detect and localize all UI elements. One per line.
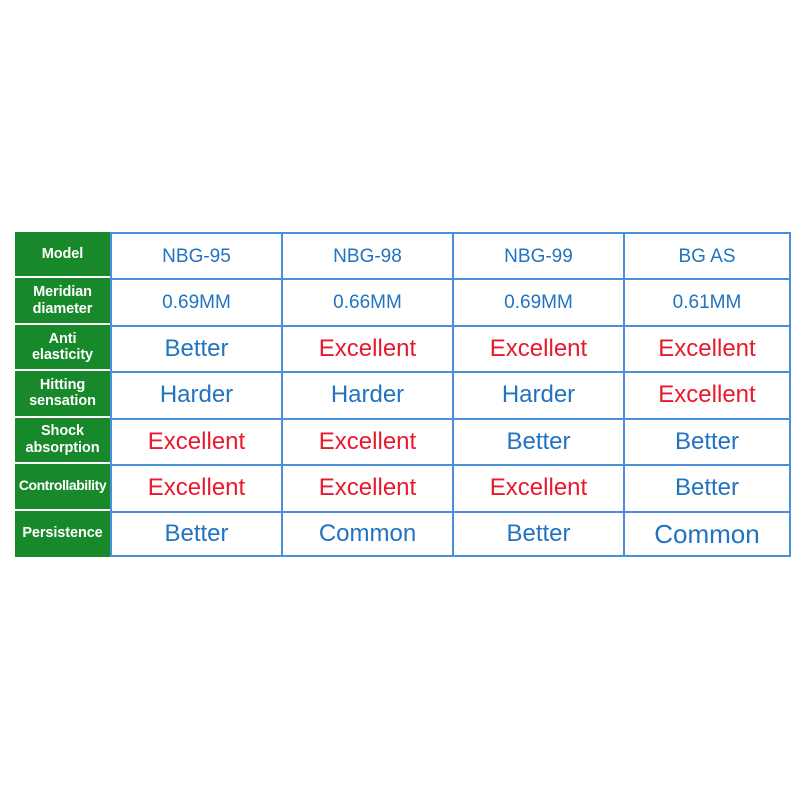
- row-header-label: Controllability: [19, 478, 106, 494]
- table-cell: Excellent: [110, 418, 281, 464]
- table-cell: Excellent: [623, 325, 791, 371]
- table-cell: 0.66MM: [281, 278, 452, 324]
- row-header-shock-absorption: Shock absorption: [15, 418, 110, 464]
- cell-value: Excellent: [319, 430, 416, 454]
- table-cell: Excellent: [452, 464, 623, 510]
- cell-value: Better: [164, 522, 228, 546]
- cell-value: BG AS: [678, 247, 735, 266]
- table-cell: Excellent: [110, 464, 281, 510]
- row-header-label: Anti elasticity: [32, 331, 93, 364]
- row-header-line2: absorption: [26, 440, 100, 457]
- table-row: Anti elasticity Better Excellent Excelle…: [15, 325, 788, 371]
- table-cell: Harder: [452, 371, 623, 417]
- row-header-persistence: Persistence: [15, 511, 110, 557]
- table-row: Shock absorption Excellent Excellent Bet…: [15, 418, 788, 464]
- table-cell: Better: [110, 325, 281, 371]
- cell-value: Better: [675, 430, 739, 454]
- cell-value: NBG-95: [162, 247, 231, 266]
- cell-value: Harder: [160, 383, 233, 407]
- cell-value: Excellent: [319, 476, 416, 500]
- cell-value: Excellent: [658, 383, 755, 407]
- row-header-line2: elasticity: [32, 347, 93, 364]
- table-cell: Common: [623, 511, 791, 557]
- cell-value: Better: [506, 522, 570, 546]
- table-cell: Common: [281, 511, 452, 557]
- cell-value: Better: [675, 476, 739, 500]
- cell-value: Harder: [331, 383, 404, 407]
- table-cell: Excellent: [452, 325, 623, 371]
- table-cell: Better: [110, 511, 281, 557]
- row-header-label: Shock absorption: [26, 423, 100, 456]
- row-header-anti-elasticity: Anti elasticity: [15, 325, 110, 371]
- table-cell: NBG-98: [281, 232, 452, 278]
- cell-value: Better: [506, 430, 570, 454]
- cell-value: NBG-99: [504, 247, 573, 266]
- table-cell: 0.69MM: [110, 278, 281, 324]
- cell-value: Excellent: [148, 476, 245, 500]
- row-header-label: Hitting sensation: [29, 377, 96, 410]
- table-cell: Excellent: [281, 418, 452, 464]
- cell-value: Excellent: [490, 476, 587, 500]
- row-header-line1: Anti: [49, 331, 77, 347]
- cell-value: Excellent: [319, 337, 416, 361]
- table-cell: 0.61MM: [623, 278, 791, 324]
- row-header-label: Meridian diameter: [33, 284, 93, 317]
- cell-value: Common: [654, 521, 759, 547]
- row-header-line1: Hitting: [40, 377, 85, 393]
- table-cell: Harder: [110, 371, 281, 417]
- row-header-line2: diameter: [33, 301, 93, 318]
- table-row: Meridian diameter 0.69MM 0.66MM 0.69MM 0…: [15, 278, 788, 324]
- table-row: Model NBG-95 NBG-98 NBG-99 BG AS: [15, 232, 788, 278]
- cell-value: 0.66MM: [333, 293, 402, 312]
- row-header-line1: Shock: [41, 423, 84, 439]
- cell-value: Harder: [502, 383, 575, 407]
- table-cell: Harder: [281, 371, 452, 417]
- table-cell: 0.69MM: [452, 278, 623, 324]
- cell-value: Better: [164, 337, 228, 361]
- cell-value: Common: [319, 522, 416, 546]
- table-cell: Better: [623, 418, 791, 464]
- row-header-line1: Meridian: [33, 284, 92, 300]
- row-header-label: Model: [42, 246, 83, 263]
- cell-value: 0.69MM: [162, 293, 231, 312]
- cell-value: NBG-98: [333, 247, 402, 266]
- row-header-hitting-sensation: Hitting sensation: [15, 371, 110, 417]
- table-cell: Excellent: [281, 325, 452, 371]
- product-comparison-table: Model NBG-95 NBG-98 NBG-99 BG AS Meridia…: [15, 232, 788, 557]
- table-cell: Better: [623, 464, 791, 510]
- row-header-label: Persistence: [22, 525, 102, 542]
- cell-value: Excellent: [658, 337, 755, 361]
- cell-value: 0.69MM: [504, 293, 573, 312]
- row-header-line2: sensation: [29, 393, 96, 410]
- cell-value: Excellent: [490, 337, 587, 361]
- row-header-model: Model: [15, 232, 110, 278]
- table-cell: NBG-95: [110, 232, 281, 278]
- table-row: Controllability Excellent Excellent Exce…: [15, 464, 788, 510]
- cell-value: 0.61MM: [673, 293, 742, 312]
- table-cell: Excellent: [281, 464, 452, 510]
- table-row: Persistence Better Common Better Common: [15, 511, 788, 557]
- cell-value: Excellent: [148, 430, 245, 454]
- table-cell: Better: [452, 511, 623, 557]
- table-cell: NBG-99: [452, 232, 623, 278]
- row-header-meridian-diameter: Meridian diameter: [15, 278, 110, 324]
- table-cell: BG AS: [623, 232, 791, 278]
- row-header-controllability: Controllability: [15, 464, 110, 510]
- screenshot-canvas: Model NBG-95 NBG-98 NBG-99 BG AS Meridia…: [0, 0, 800, 800]
- table-cell: Excellent: [623, 371, 791, 417]
- table-row: Hitting sensation Harder Harder Harder E…: [15, 371, 788, 417]
- table-cell: Better: [452, 418, 623, 464]
